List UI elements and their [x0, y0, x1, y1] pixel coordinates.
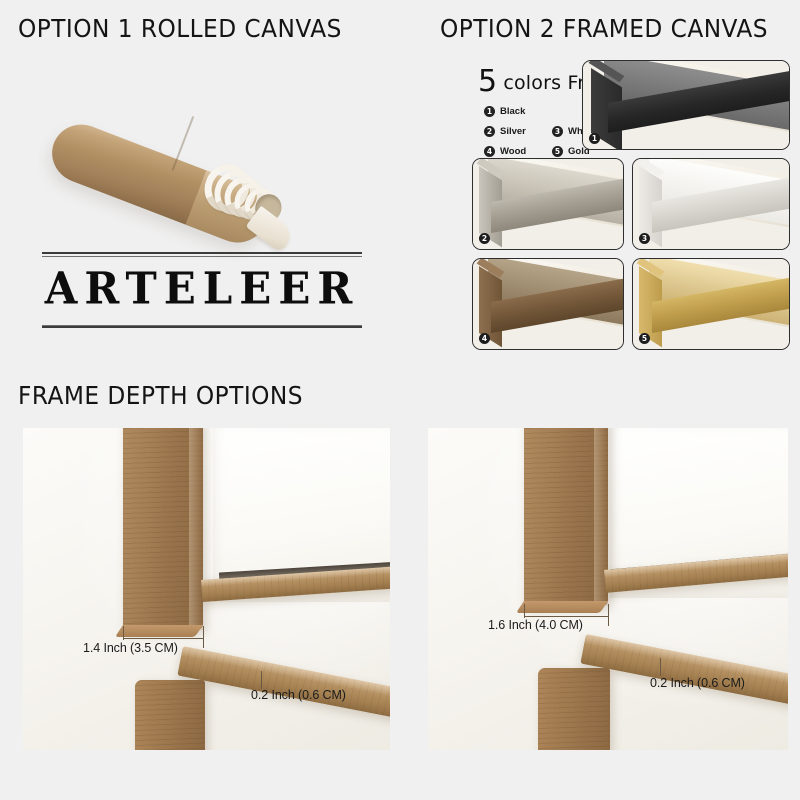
dim-tick-thickness [261, 671, 262, 689]
logo-rule-bottom [42, 325, 362, 328]
legend-item-silver: 2 Silver [484, 126, 552, 137]
frame-depth-photo-1-4: 1.4 Inch (3.5 CM) 0.2 Inch (0.6 CM) [23, 428, 390, 750]
swatch-badge-3-icon: 3 [639, 233, 650, 244]
legend-label-black: Black [500, 106, 525, 117]
swatch-badge-2-icon: 2 [479, 233, 490, 244]
infographic-page: OPTION 1 ROLLED CANVAS ARTELEER OPTION 2… [0, 0, 800, 800]
frame-swatch-silver[interactable]: 2 [472, 158, 624, 250]
frame-depth-photo-1-6: 1.6 Inch (4.0 CM) 0.2 Inch (0.6 CM) [428, 428, 788, 750]
legend-item-wood: 4 Wood [484, 146, 552, 157]
frame-corner-block [135, 680, 205, 750]
frame-corner-render [583, 61, 789, 149]
swatch-badge-1-icon: 1 [589, 133, 600, 144]
frame-corner-render [473, 259, 623, 349]
frame-corner-render [633, 259, 789, 349]
dim-label-frame-thickness: 0.2 Inch (0.6 CM) [251, 688, 346, 702]
frame-swatch-wood[interactable]: 4 [472, 258, 624, 350]
frame-post-vertical [123, 428, 203, 630]
frame-swatch-black[interactable]: 1 [582, 60, 790, 150]
dim-tick-thickness [660, 658, 661, 676]
colors-count: 5 [478, 64, 497, 99]
dim-label-frame-width: 1.4 Inch (3.5 CM) [83, 641, 178, 655]
brand-logo: ARTELEER [42, 252, 362, 328]
dim-label-frame-thickness: 0.2 Inch (0.6 CM) [650, 676, 745, 690]
frame-post-vertical [524, 428, 608, 606]
badge-4-icon: 4 [484, 146, 495, 157]
frame-depth-heading: FRAME DEPTH OPTIONS [18, 381, 303, 410]
frame-swatch-gold[interactable]: 5 [632, 258, 790, 350]
frame-corner-render [633, 159, 789, 249]
rolled-canvas-illustration [30, 62, 370, 212]
badge-5-icon: 5 [552, 146, 563, 157]
frame-swatch-white[interactable]: 3 [632, 158, 790, 250]
post-end-grain [516, 601, 608, 613]
post-end-grain [115, 625, 203, 637]
canvas-spiral [188, 144, 321, 262]
badge-1-icon: 1 [484, 106, 495, 117]
badge-3-icon: 3 [552, 126, 563, 137]
swatch-badge-4-icon: 4 [479, 333, 490, 344]
frame-corner-render [473, 159, 623, 249]
legend-item-black: 1 Black [484, 106, 552, 117]
swatch-badge-5-icon: 5 [639, 333, 650, 344]
legend-label-silver: Silver [500, 126, 526, 137]
dim-tick-right [608, 604, 609, 626]
option1-heading: OPTION 1 ROLLED CANVAS [18, 14, 342, 43]
badge-2-icon: 2 [484, 126, 495, 137]
post-bevel [189, 428, 203, 630]
dim-label-frame-width: 1.6 Inch (4.0 CM) [488, 618, 583, 632]
legend-label-wood: Wood [500, 146, 526, 157]
brand-name: ARTELEER [42, 256, 362, 324]
frame-corner-block [538, 668, 610, 750]
frame-colors-panel: 5 colors Framing 1 Black 2 Silver 3 Whit… [472, 58, 790, 358]
dim-line-width [123, 638, 203, 639]
option2-heading: OPTION 2 FRAMED CANVAS [440, 14, 768, 43]
dim-line-width [524, 616, 608, 617]
dim-tick-right [203, 626, 204, 648]
